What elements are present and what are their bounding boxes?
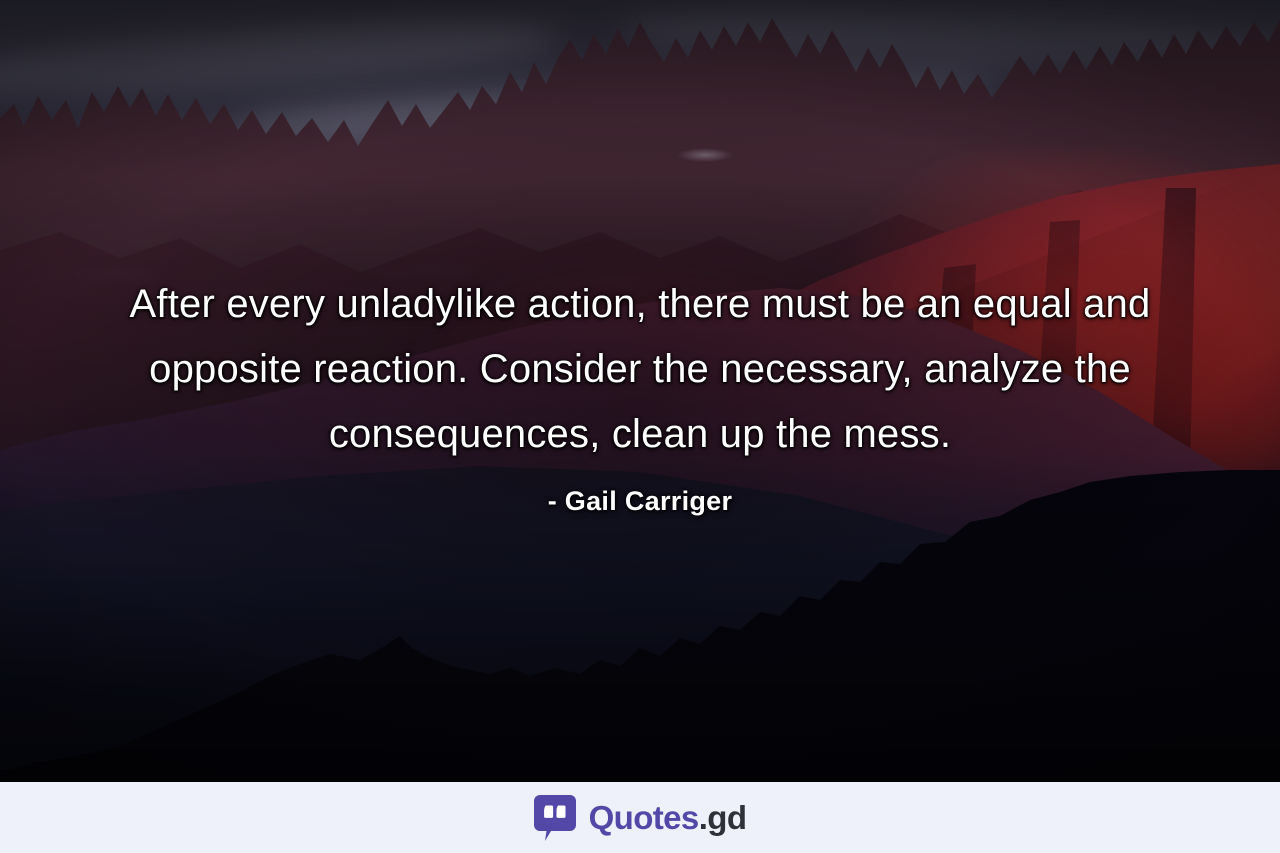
footer: Quotes.gd (0, 782, 1280, 853)
quote-card: After every unladylike action, there mus… (0, 0, 1280, 853)
site-logo-text: Quotes.gd (589, 801, 747, 834)
quote-overlay: After every unladylike action, there mus… (0, 0, 1280, 782)
site-name: Quotes (589, 801, 699, 834)
quote-bubble-icon (534, 795, 576, 841)
site-tld: .gd (699, 801, 747, 834)
quote-author: - Gail Carriger (548, 486, 733, 517)
site-logo-link[interactable]: Quotes.gd (534, 795, 747, 841)
quote-text: After every unladylike action, there mus… (95, 272, 1185, 466)
